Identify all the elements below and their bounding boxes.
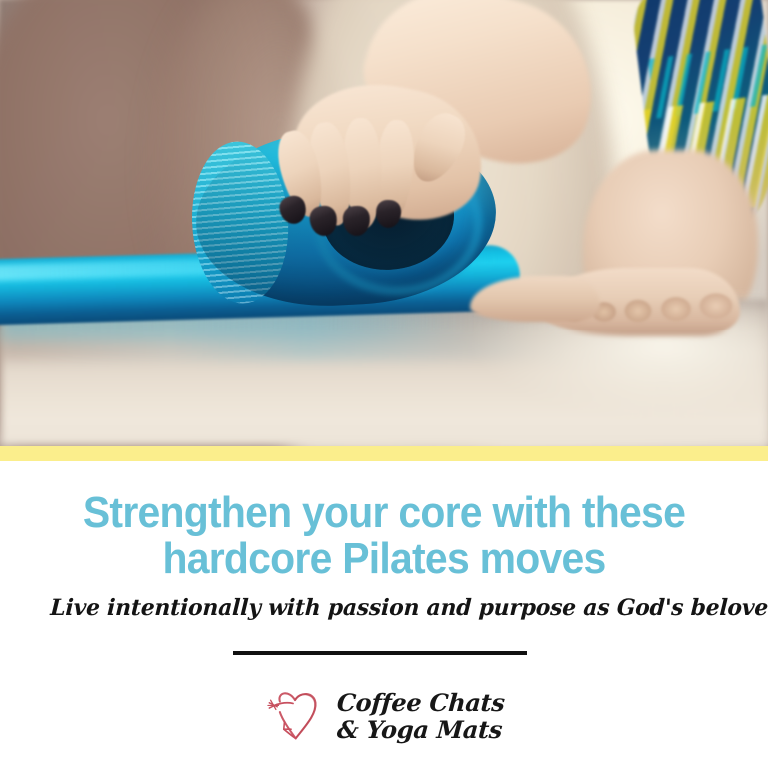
- yellow-accent-band: [0, 446, 768, 461]
- headline-line-1: Strengthen your core with these: [64, 490, 704, 536]
- hand-drawn-heart-arrow-icon: [264, 683, 330, 749]
- hero-photo: [0, 0, 768, 446]
- nail-index: [375, 199, 401, 228]
- brand-line-2: & Yoga Mats: [334, 716, 504, 743]
- nail-middle: [342, 205, 371, 236]
- headline-line-2: hardcore Pilates moves: [64, 536, 704, 582]
- pinterest-pin-graphic: Strengthen your core with these hardcore…: [0, 0, 768, 768]
- brand-logo: Coffee Chats & Yoga Mats: [0, 677, 768, 755]
- text-card: Strengthen your core with these hardcore…: [0, 461, 768, 768]
- headline: Strengthen your core with these hardcore…: [64, 490, 704, 582]
- brand-name: Coffee Chats & Yoga Mats: [334, 689, 506, 743]
- divider-rule: [233, 651, 527, 655]
- tagline: Live intentionally with passion and purp…: [50, 595, 719, 621]
- hand-rolling-mat: [246, 34, 546, 254]
- foreground-blur: [0, 330, 768, 446]
- brand-line-1: Coffee Chats: [336, 689, 506, 716]
